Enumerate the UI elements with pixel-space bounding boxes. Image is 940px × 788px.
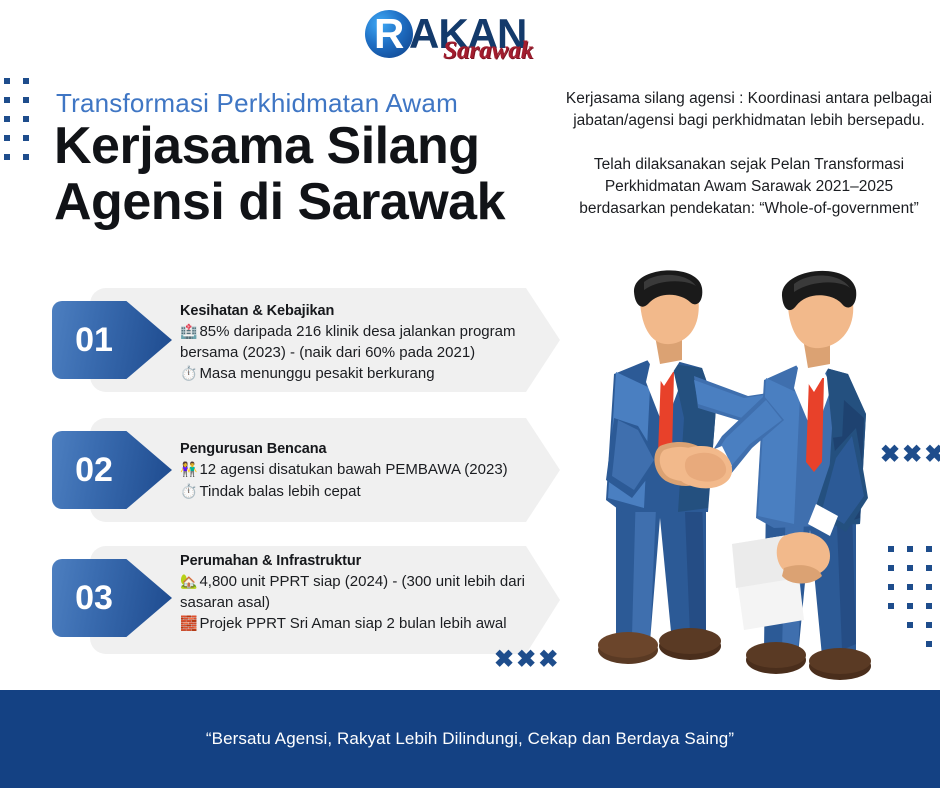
card-content: Pengurusan Bencana 👫12 agensi disatukan …	[180, 441, 540, 502]
brand-logo: R AKAN Sarawak	[0, 4, 940, 66]
decorative-dot	[23, 97, 29, 103]
hospital-icon: 🏥	[180, 323, 197, 339]
decorative-dot	[4, 97, 10, 103]
two-businessmen-handshake-illustration	[598, 268, 898, 693]
card-line-1: 🏡4,800 unit PPRT siap (2024) - (300 unit…	[180, 571, 540, 613]
decorative-dot	[907, 622, 913, 628]
card-line-2-text: Tindak balas lebih cepat	[199, 483, 360, 500]
intro-block: Kerjasama silang agensi : Koordinasi ant…	[560, 88, 938, 220]
card-line-2-text: Projek PPRT Sri Aman siap 2 bulan lebih …	[199, 615, 506, 632]
footer-tagline: “Bersatu Agensi, Rakyat Lebih Dilindungi…	[206, 729, 734, 749]
card-line-1: 👫12 agensi disatukan bawah PEMBAWA (2023…	[180, 459, 540, 481]
decorative-dot	[23, 116, 29, 122]
card-line-2: 🧱Projek PPRT Sri Aman siap 2 bulan lebih…	[180, 613, 540, 635]
brick-icon: 🧱	[180, 615, 197, 631]
decorative-dot	[907, 546, 913, 552]
decorative-dot	[4, 78, 10, 84]
card-line-2: ⏱️Tindak balas lebih cepat	[180, 481, 540, 503]
logo-subtitle: Sarawak	[443, 37, 533, 65]
card-line-1: 🏥85% daripada 216 klinik desa jalankan p…	[180, 321, 540, 363]
logo-letter-r: R	[374, 12, 404, 56]
decorative-dot-grid-left	[4, 78, 56, 154]
decorative-dot	[926, 603, 932, 609]
step-number: 01	[52, 321, 136, 360]
card-title: Kesihatan & Kebajikan	[180, 303, 540, 319]
intro-paragraph-1: Kerjasama silang agensi : Koordinasi ant…	[560, 88, 938, 132]
two-people-icon: 👫	[180, 461, 197, 477]
decorative-dot	[23, 78, 29, 84]
decorative-dot	[907, 565, 913, 571]
step-number: 03	[52, 579, 136, 618]
stopwatch-icon: ⏱️	[180, 483, 197, 499]
card-line-2-text: Masa menunggu pesakit berkurang	[199, 365, 434, 382]
footer-banner: “Bersatu Agensi, Rakyat Lebih Dilindungi…	[0, 690, 940, 788]
decorative-x-marks-left: ✖✖✖	[494, 645, 560, 674]
decorative-dot	[926, 641, 932, 647]
card-line-1-text: 85% daripada 216 klinik desa jalankan pr…	[180, 323, 515, 361]
decorative-dot	[4, 116, 10, 122]
decorative-dot	[23, 154, 29, 160]
card-title: Perumahan & Infrastruktur	[180, 553, 540, 569]
card-title: Pengurusan Bencana	[180, 441, 540, 457]
section-eyebrow: Transformasi Perkhidmatan Awam	[56, 88, 458, 119]
house-icon: 🏡	[180, 573, 197, 589]
infographic-page: R AKAN Sarawak Transformasi Perkhidmatan…	[0, 0, 940, 788]
decorative-dot	[907, 603, 913, 609]
card-content: Kesihatan & Kebajikan 🏥85% daripada 216 …	[180, 303, 540, 385]
card-line-1-text: 4,800 unit PPRT siap (2024) - (300 unit …	[180, 573, 525, 611]
page-title: Kerjasama Silang Agensi di Sarawak	[54, 118, 574, 230]
card-line-2: ⏱️Masa menunggu pesakit berkurang	[180, 363, 540, 385]
card-content: Perumahan & Infrastruktur 🏡4,800 unit PP…	[180, 553, 540, 635]
decorative-dot	[926, 565, 932, 571]
decorative-dot	[926, 546, 932, 552]
intro-paragraph-2: Telah dilaksanakan sejak Pelan Transform…	[560, 154, 938, 220]
step-number: 02	[52, 451, 136, 490]
decorative-dot	[907, 584, 913, 590]
decorative-dot	[23, 135, 29, 141]
decorative-dot	[926, 584, 932, 590]
decorative-dot	[4, 135, 10, 141]
decorative-dot	[4, 154, 10, 160]
card-line-1-text: 12 agensi disatukan bawah PEMBAWA (2023)	[199, 461, 507, 478]
decorative-dot	[926, 622, 932, 628]
stopwatch-icon: ⏱️	[180, 365, 197, 381]
